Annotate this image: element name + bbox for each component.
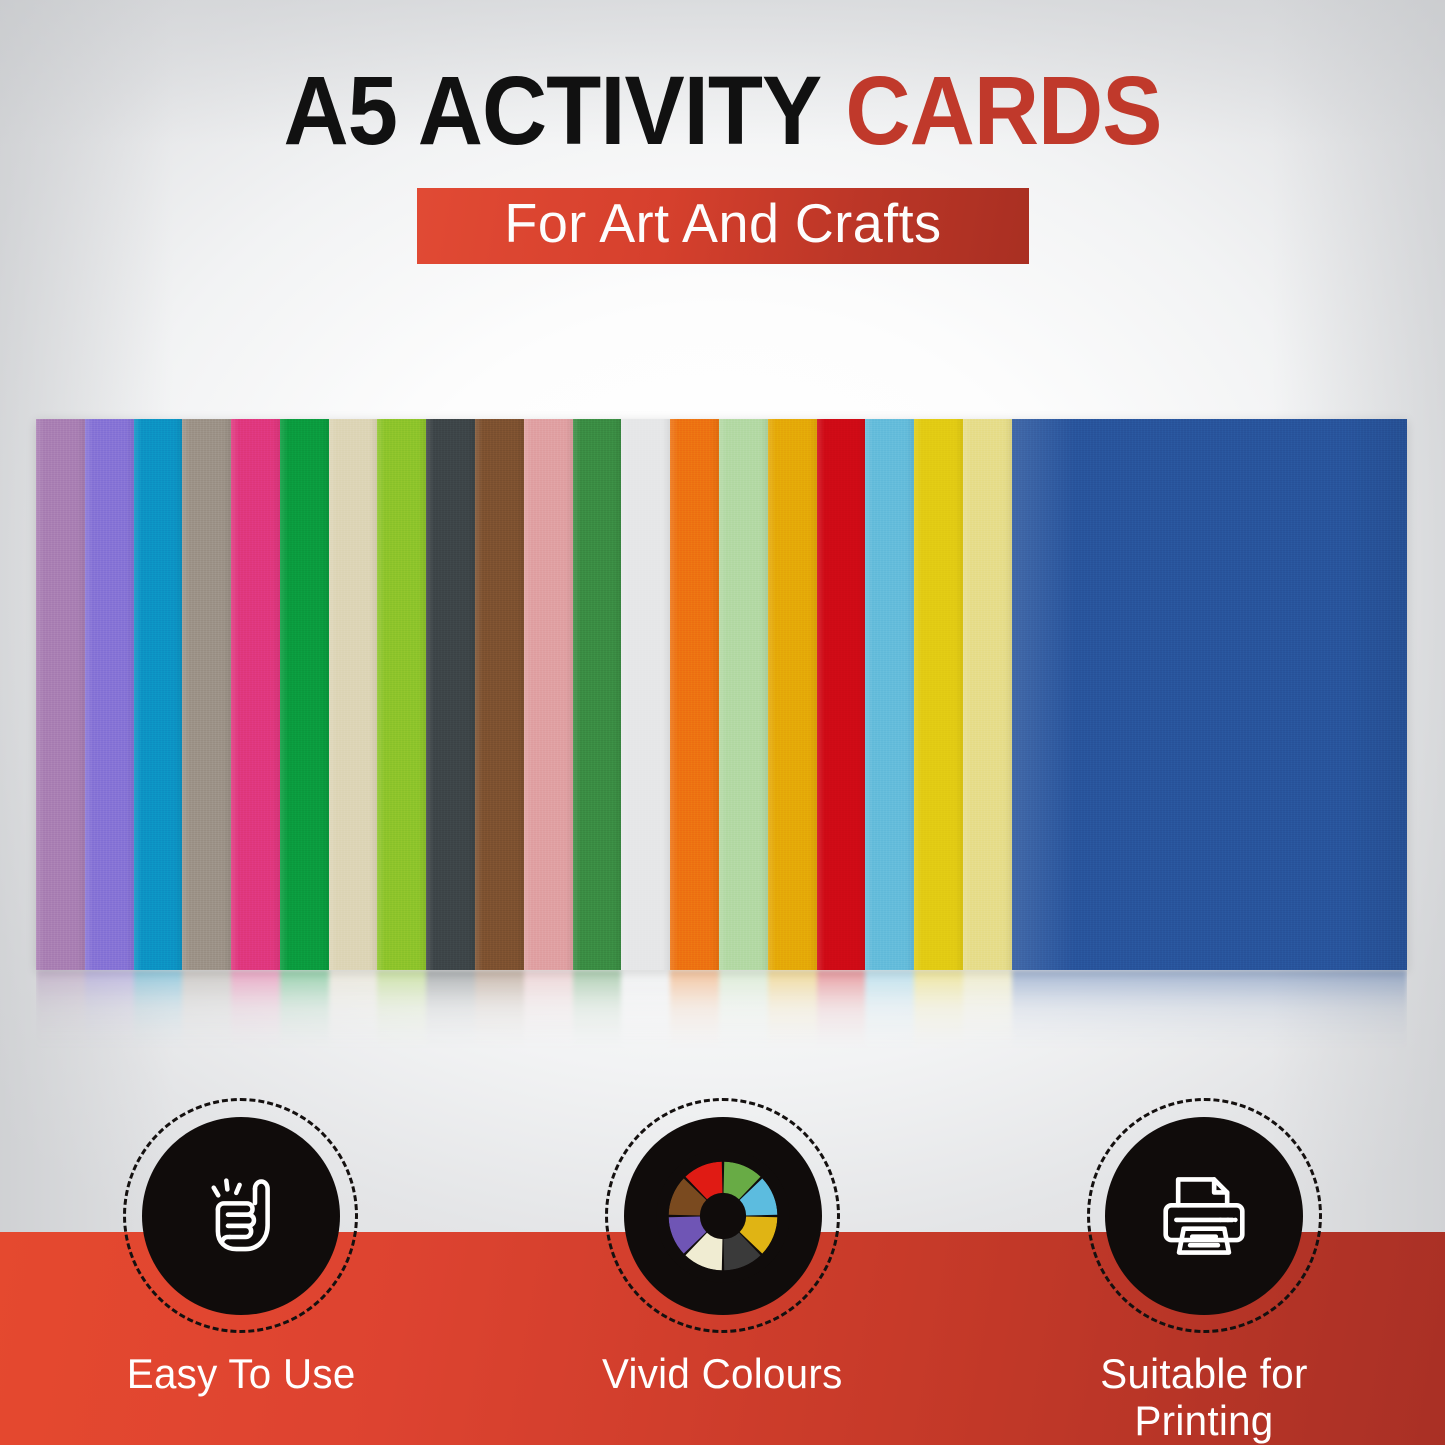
reflection-stripe-brown [475, 970, 524, 1062]
feature-item-vivid-colours: Vivid Colours [482, 1098, 964, 1445]
card-stripe-royal-blue [1012, 419, 1407, 970]
colour-wheel-icon [655, 1148, 791, 1284]
card-stripe-pale-green [719, 419, 768, 970]
title-primary: A5 ACTIVITY [283, 56, 821, 165]
reflection-stripe-white [621, 970, 670, 1062]
card-stripe-beige [329, 419, 378, 970]
card-stripe-sky-blue [865, 419, 914, 970]
reflection-stripe-lime-green [377, 970, 426, 1062]
feature-label: Vivid Colours [602, 1350, 843, 1397]
subtitle-badge: For Art And Crafts [417, 188, 1029, 264]
reflection-stripe-green [280, 970, 329, 1062]
card-stripe-magenta-pink [231, 419, 280, 970]
card-stripe-cyan-blue [134, 419, 183, 970]
feature-icon-circle [1105, 1117, 1303, 1315]
reflection-stripe-cyan-blue [134, 970, 183, 1062]
card-stripe-mauve-purple [36, 419, 85, 970]
reflection-stripe-beige [329, 970, 378, 1062]
card-stripes [36, 419, 1407, 970]
card-stripe-lime-green [377, 419, 426, 970]
header: A5 ACTIVITY CARDS For Art And Crafts [0, 0, 1445, 300]
reflection-stripe-red [817, 970, 866, 1062]
reflection-stripe-golden-yellow [768, 970, 817, 1062]
feature-icon-circle [142, 1117, 340, 1315]
reflection-stripe-sky-blue [865, 970, 914, 1062]
snapping-hand-icon [185, 1160, 297, 1272]
card-stripe-orange [670, 419, 719, 970]
card-stripe-cream-yellow [963, 419, 1012, 970]
reflection-stripe-violet [85, 970, 134, 1062]
reflection-stripe-warm-grey [182, 970, 231, 1062]
subtitle-text: For Art And Crafts [448, 194, 997, 252]
feature-badge-ring [605, 1098, 840, 1333]
reflection-stripe-magenta-pink [231, 970, 280, 1062]
card-stripe-charcoal [426, 419, 475, 970]
reflection-stripe-orange [670, 970, 719, 1062]
card-stripe-forest-green [573, 419, 622, 970]
product-card-stack [36, 419, 1407, 970]
card-stripe-brown [475, 419, 524, 970]
feature-label: Suitable for Printing [1046, 1350, 1363, 1444]
colour-wheel-outer-ring [662, 1155, 783, 1276]
card-stripe-golden-yellow [768, 419, 817, 970]
card-stripe-white [621, 419, 670, 970]
card-stripe-dusty-pink [524, 419, 573, 970]
card-stripe-red [817, 419, 866, 970]
card-stripe-warm-grey [182, 419, 231, 970]
feature-label: Easy To Use [126, 1350, 355, 1397]
feature-item-suitable-for-printing: Suitable for Printing [963, 1098, 1445, 1445]
feature-list: Easy To Use Vivid Colours [0, 1098, 1445, 1445]
reflection-stripe-forest-green [573, 970, 622, 1062]
feature-badge-ring [1087, 1098, 1322, 1333]
page-title: A5 ACTIVITY CARDS [51, 62, 1395, 159]
reflection-stripe-yellow [914, 970, 963, 1062]
printer-icon [1147, 1159, 1261, 1273]
card-stripe-green [280, 419, 329, 970]
reflection-stripe-dusty-pink [524, 970, 573, 1062]
feature-badge-ring [123, 1098, 358, 1333]
feature-item-easy-to-use: Easy To Use [0, 1098, 482, 1445]
feature-icon-circle [624, 1117, 822, 1315]
reflection-stripe-cream-yellow [963, 970, 1012, 1062]
card-stack-reflection [36, 970, 1407, 1062]
reflection-stripe-pale-green [719, 970, 768, 1062]
card-stripe-yellow [914, 419, 963, 970]
reflection-stripe-royal-blue [1012, 970, 1407, 1062]
card-stripe-violet [85, 419, 134, 970]
reflection-stripe-charcoal [426, 970, 475, 1062]
reflection-stripe-mauve-purple [36, 970, 85, 1062]
title-accent: CARDS [845, 56, 1161, 165]
